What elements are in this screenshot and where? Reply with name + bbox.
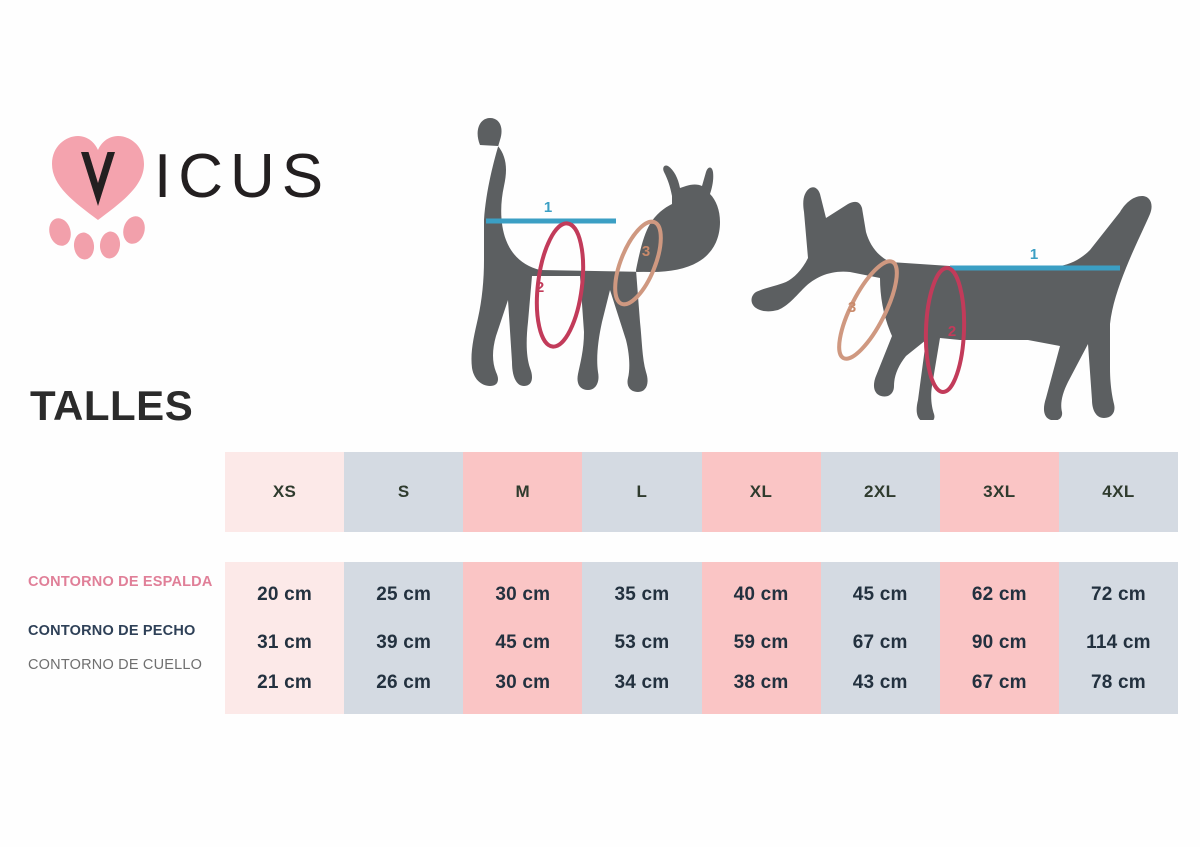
table-cell: 72 cm — [1059, 584, 1178, 606]
table-cell: 40 cm — [702, 584, 821, 606]
size-header-4xl: 4XL — [1059, 452, 1178, 532]
value-column-xs: 20 cm31 cm21 cm — [225, 562, 344, 714]
size-header-3xl: 3XL — [940, 452, 1059, 532]
cat-back-length-annotation: 1 — [486, 199, 616, 221]
table-cell: 30 cm — [463, 672, 582, 694]
value-column-l: 35 cm53 cm34 cm — [582, 562, 701, 714]
size-header-s: S — [344, 452, 463, 532]
table-cell: 59 cm — [702, 632, 821, 654]
table-cell: 78 cm — [1059, 672, 1178, 694]
size-header-label: XL — [750, 482, 773, 502]
value-column-m: 30 cm45 cm30 cm — [463, 562, 582, 714]
value-column-s: 25 cm39 cm26 cm — [344, 562, 463, 714]
size-header-label: L — [637, 482, 648, 502]
brand-logo: ICUS — [44, 128, 344, 260]
svg-text:3: 3 — [848, 299, 856, 316]
cat-silhouette — [471, 118, 720, 392]
table-cell: 30 cm — [463, 584, 582, 606]
size-header-xs: XS — [225, 452, 344, 532]
cat-chest-girth-annotation: 2 — [531, 221, 590, 349]
table-cell: 21 cm — [225, 672, 344, 694]
size-header-xl: XL — [702, 452, 821, 532]
measurement-illustration: 1 2 3 1 2 — [420, 100, 1160, 420]
table-cell: 67 cm — [821, 632, 940, 654]
table-cell: 62 cm — [940, 584, 1059, 606]
svg-text:2: 2 — [948, 323, 956, 340]
table-cell: 39 cm — [344, 632, 463, 654]
table-cell: 35 cm — [582, 584, 701, 606]
size-header-m: M — [463, 452, 582, 532]
table-cell: 38 cm — [702, 672, 821, 694]
value-column-xl: 40 cm59 cm38 cm — [702, 562, 821, 714]
size-header-label: XS — [273, 482, 296, 502]
svg-text:2: 2 — [536, 279, 544, 296]
size-header-label: S — [398, 482, 410, 502]
table-cell: 20 cm — [225, 584, 344, 606]
brand-name: ICUS — [154, 146, 330, 208]
table-cell: 25 cm — [344, 584, 463, 606]
table-cell: 45 cm — [821, 584, 940, 606]
value-column-2xl: 45 cm67 cm43 cm — [821, 562, 940, 714]
size-chart-page: ICUS TALLES 1 2 3 — [0, 0, 1200, 847]
size-table-values: 20 cm31 cm21 cm25 cm39 cm26 cm30 cm45 cm… — [225, 562, 1178, 714]
svg-text:1: 1 — [1030, 246, 1038, 263]
size-header-label: 4XL — [1102, 482, 1134, 502]
size-header-label: 3XL — [983, 482, 1015, 502]
table-cell: 45 cm — [463, 632, 582, 654]
page-title: TALLES — [30, 385, 193, 427]
table-cell: 90 cm — [940, 632, 1059, 654]
size-header-2xl: 2XL — [821, 452, 940, 532]
size-header-label: M — [516, 482, 531, 502]
table-cell: 53 cm — [582, 632, 701, 654]
table-cell: 43 cm — [821, 672, 940, 694]
size-table: XSSMLXL2XL3XL4XL 20 cm31 cm21 cm25 cm39 … — [0, 448, 1200, 718]
table-cell: 26 cm — [344, 672, 463, 694]
value-column-4xl: 72 cm114 cm78 cm — [1059, 562, 1178, 714]
table-cell: 114 cm — [1059, 632, 1178, 654]
table-cell: 34 cm — [582, 672, 701, 694]
table-cell: 31 cm — [225, 632, 344, 654]
value-column-3xl: 62 cm90 cm67 cm — [940, 562, 1059, 714]
svg-text:3: 3 — [642, 243, 650, 260]
table-cell: 67 cm — [940, 672, 1059, 694]
heart-paw-logo-icon — [44, 128, 152, 260]
size-header-label: 2XL — [864, 482, 896, 502]
size-header-l: L — [582, 452, 701, 532]
svg-text:1: 1 — [544, 199, 552, 216]
